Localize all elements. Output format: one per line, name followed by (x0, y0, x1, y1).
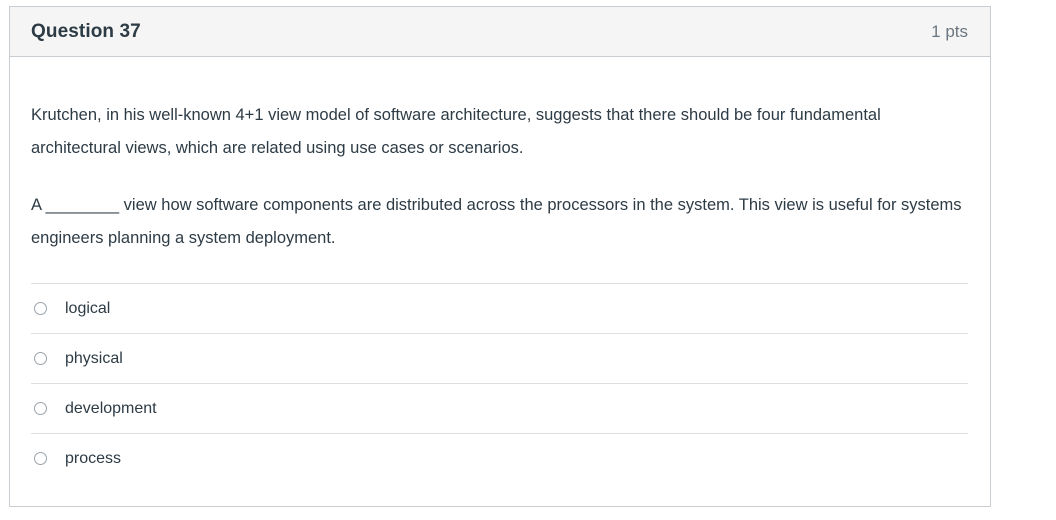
radio-button-icon[interactable] (34, 452, 47, 465)
question-points: 1 pts (931, 22, 968, 42)
answer-option-label: process (65, 451, 121, 467)
answer-option-physical[interactable]: physical (31, 333, 968, 383)
question-card: Question 37 1 pts Krutchen, in his well-… (9, 6, 991, 507)
question-body: Krutchen, in his well-known 4+1 view mod… (10, 57, 990, 483)
question-paragraph-2: A ________ view how software components … (31, 165, 968, 255)
answer-option-development[interactable]: development (31, 383, 968, 433)
answer-option-label: logical (65, 301, 110, 317)
radio-button-icon[interactable] (34, 302, 47, 315)
question-header: Question 37 1 pts (10, 7, 990, 57)
question-paragraph-1: Krutchen, in his well-known 4+1 view mod… (31, 57, 968, 165)
radio-button-icon[interactable] (34, 352, 47, 365)
answer-option-process[interactable]: process (31, 433, 968, 483)
question-title: Question 37 (31, 21, 141, 43)
answer-option-label: physical (65, 351, 123, 367)
answer-option-label: development (65, 401, 157, 417)
answer-options-list: logical physical development process (31, 283, 968, 483)
radio-button-icon[interactable] (34, 402, 47, 415)
answer-option-logical[interactable]: logical (31, 283, 968, 333)
